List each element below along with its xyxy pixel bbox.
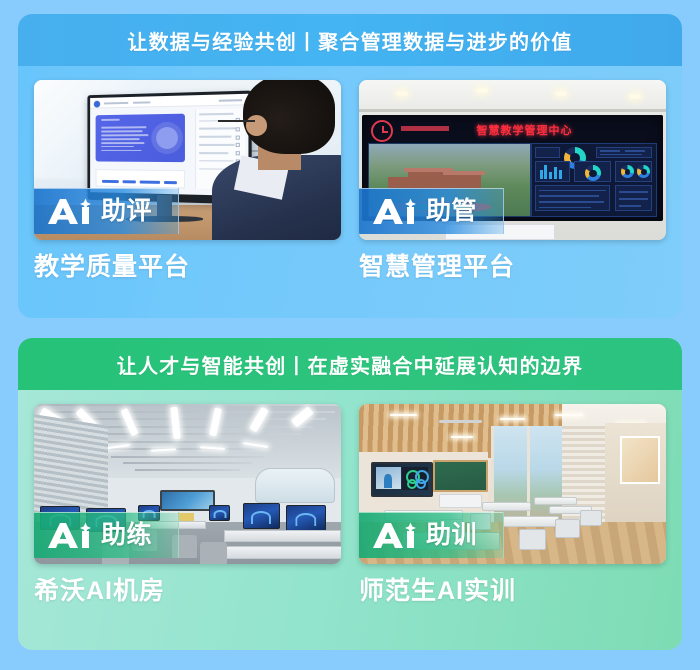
section-talent-intelligence: 让人才与智能共创丨在虚实融合中延展认知的边界 — [18, 338, 682, 650]
ai-badge-assist-evaluation: 助评 — [34, 188, 179, 234]
ai-logo-icon — [46, 198, 92, 225]
section-body-blue: 助评 教学质量平台 — [18, 66, 682, 318]
ai-logo-icon — [46, 522, 92, 549]
ai-logo-icon — [371, 198, 417, 225]
card-caption-teaching-quality: 教学质量平台 — [34, 254, 341, 282]
photo-smart-management: 智慧教学管理中心 — [359, 80, 666, 240]
ai-badge-assist-training: 助训 — [359, 512, 504, 558]
photo-teaching-quality: 助评 — [34, 80, 341, 240]
banner-title-blue: 让数据与经验共创丨聚合管理数据与进步的价值 — [127, 26, 572, 55]
ai-badge-label: 助管 — [426, 199, 477, 224]
card-smart-management[interactable]: 智慧教学管理中心 — [359, 80, 666, 304]
banner-title-green: 让人才与智能共创丨在虚实融合中延展认知的边界 — [117, 350, 583, 379]
section-data-experience: 让数据与经验共创丨聚合管理数据与进步的价值 — [18, 14, 682, 318]
card-caption-teacher-ai-training: 师范生AI实训 — [359, 578, 666, 606]
card-teacher-ai-training[interactable]: 助训 师范生AI实训 — [359, 404, 666, 636]
video-wall-title: 智慧教学管理中心 — [476, 122, 572, 139]
ai-badge-label: 助训 — [426, 523, 477, 548]
card-caption-ai-computer-lab: 希沃AI机房 — [34, 578, 341, 606]
card-caption-smart-management: 智慧管理平台 — [359, 254, 666, 282]
photo-teacher-ai-training: 助训 — [359, 404, 666, 564]
ai-badge-assist-management: 助管 — [359, 188, 504, 234]
poster-page: 让数据与经验共创丨聚合管理数据与进步的价值 — [0, 0, 700, 670]
card-ai-computer-lab[interactable]: 助练 希沃AI机房 — [34, 404, 341, 636]
card-teaching-quality[interactable]: 助评 教学质量平台 — [34, 80, 341, 304]
photo-ai-computer-lab: 助练 — [34, 404, 341, 564]
section-banner-green: 让人才与智能共创丨在虚实融合中延展认知的边界 — [18, 338, 682, 390]
ai-badge-label: 助评 — [101, 199, 152, 224]
section-body-green: 助练 希沃AI机房 — [18, 390, 682, 650]
ai-logo-icon — [371, 522, 417, 549]
ai-badge-assist-practice: 助练 — [34, 512, 179, 558]
section-banner-blue: 让数据与经验共创丨聚合管理数据与进步的价值 — [18, 14, 682, 66]
ai-badge-label: 助练 — [101, 523, 152, 548]
